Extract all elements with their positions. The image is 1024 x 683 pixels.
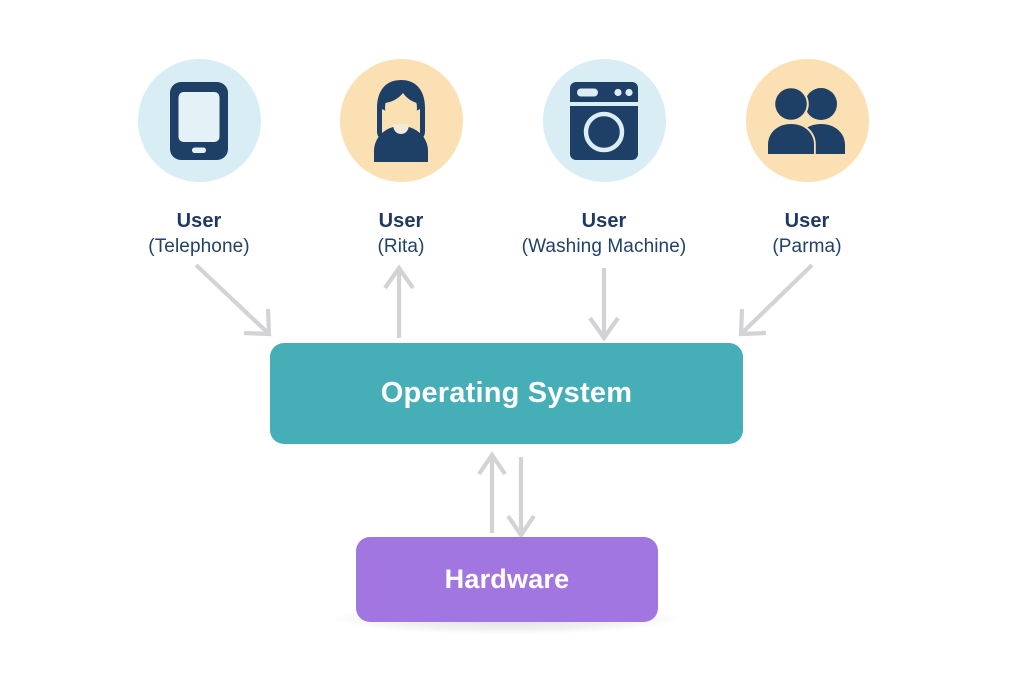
arrow-hardware-to-os-up xyxy=(479,455,505,533)
arrow-telephone-to-os xyxy=(196,265,269,334)
operating-system-box[interactable]: Operating System xyxy=(270,343,743,444)
arrow-parma-to-os xyxy=(741,265,812,334)
hardware-box[interactable]: Hardware xyxy=(356,537,658,622)
smartphone-icon xyxy=(168,80,230,162)
user-node-washing-machine[interactable]: User (Washing Machine) xyxy=(504,59,704,260)
user-node-parma[interactable]: User (Parma) xyxy=(707,59,907,260)
user-label-washing-machine: User xyxy=(504,208,704,234)
parma-icon-circle xyxy=(746,59,869,182)
washing-machine-icon xyxy=(566,80,642,162)
operating-system-label: Operating System xyxy=(381,377,632,410)
user-sublabel-rita: (Rita) xyxy=(301,234,501,260)
user-sublabel-parma: (Parma) xyxy=(707,234,907,260)
user-sublabel-telephone: (Telephone) xyxy=(99,234,299,260)
washing-machine-icon-circle xyxy=(543,59,666,182)
group-users-icon xyxy=(764,86,850,156)
hardware-label: Hardware xyxy=(445,564,570,595)
woman-user-icon xyxy=(362,79,440,163)
os-architecture-diagram: .ar { stroke:#d3d3d6; stroke-width:4.2; … xyxy=(0,0,1024,683)
user-sublabel-washing-machine: (Washing Machine) xyxy=(504,234,704,260)
user-node-telephone[interactable]: User (Telephone) xyxy=(99,59,299,260)
user-label-telephone: User xyxy=(99,208,299,234)
user-label-parma: User xyxy=(707,208,907,234)
user-node-rita[interactable]: User (Rita) xyxy=(301,59,501,260)
telephone-icon-circle xyxy=(138,59,261,182)
arrow-os-to-hardware-down xyxy=(508,457,534,535)
arrow-washing-machine-to-os xyxy=(590,268,618,338)
user-label-rita: User xyxy=(301,208,501,234)
rita-icon-circle xyxy=(340,59,463,182)
arrow-rita-to-os xyxy=(385,268,413,338)
